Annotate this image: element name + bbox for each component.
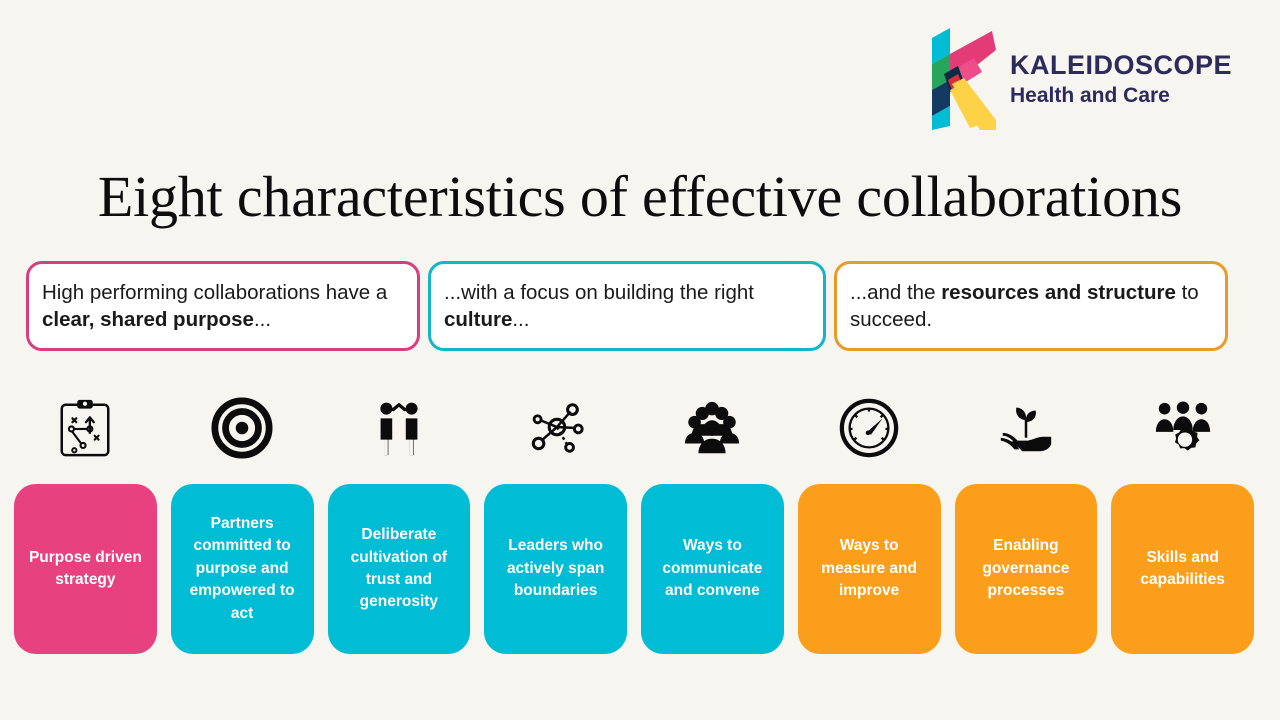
card-purpose-driven-strategy[interactable]: Purpose driven strategy — [14, 484, 157, 654]
kaleidoscope-logo: KALEIDOSCOPE Health and Care — [924, 28, 1232, 130]
icon-cell-2 — [171, 390, 314, 466]
card-ways-to-communicate[interactable]: Ways to communicate and convene — [641, 484, 784, 654]
card-deliberate-cultivation[interactable]: Deliberate cultivation of trust and gene… — [328, 484, 471, 654]
characteristics-card-row: Purpose driven strategy Partners committ… — [14, 484, 1254, 654]
card-ways-to-measure[interactable]: Ways to measure and improve — [798, 484, 941, 654]
logo-subtitle: Health and Care — [1010, 85, 1232, 106]
callout-culture-text: ...with a focus on building the right cu… — [444, 279, 811, 334]
callout-purpose-bold: clear, shared purpose — [42, 308, 254, 331]
callout-purpose: High performing collaborations have a cl… — [26, 261, 420, 351]
network-nodes-icon — [525, 397, 587, 459]
icon-cell-6 — [798, 390, 941, 466]
card-leaders-span-boundaries[interactable]: Leaders who actively span boundaries — [484, 484, 627, 654]
card-label: Ways to measure and improve — [807, 535, 932, 602]
callout-culture-tail: ... — [512, 308, 529, 331]
target-bullseye-icon — [211, 397, 273, 459]
card-label: Deliberate cultivation of trust and gene… — [337, 524, 462, 614]
icon-cell-5 — [641, 390, 784, 466]
callout-resources: ...and the resources and structure to su… — [834, 261, 1228, 351]
slide-canvas: KALEIDOSCOPE Health and Care Eight chara… — [0, 0, 1280, 720]
card-label: Partners committed to purpose and empowe… — [180, 513, 305, 625]
icon-cell-3 — [328, 390, 471, 466]
callout-resources-lead: ...and the — [850, 281, 941, 304]
callout-resources-text: ...and the resources and structure to su… — [850, 279, 1213, 334]
icon-cell-7 — [955, 390, 1098, 466]
callout-culture: ...with a focus on building the right cu… — [428, 261, 826, 351]
page-title: Eight characteristics of effective colla… — [0, 163, 1280, 230]
icon-cell-8 — [1111, 390, 1254, 466]
card-enabling-governance[interactable]: Enabling governance processes — [955, 484, 1098, 654]
icon-row — [14, 390, 1254, 466]
card-label: Enabling governance processes — [964, 535, 1089, 602]
card-label: Purpose driven strategy — [23, 547, 148, 592]
callout-purpose-tail: ... — [254, 308, 271, 331]
callout-purpose-lead: High performing collaborations have a — [42, 281, 387, 304]
callout-row: High performing collaborations have a cl… — [26, 261, 1248, 351]
high-five-people-icon — [368, 397, 430, 459]
callout-culture-bold: culture — [444, 308, 512, 331]
card-label: Leaders who actively span boundaries — [493, 535, 618, 602]
icon-cell-1 — [14, 390, 157, 466]
gauge-meter-icon — [838, 397, 900, 459]
callout-resources-bold: resources and structure — [941, 281, 1176, 304]
hand-sprout-icon — [995, 397, 1057, 459]
icon-cell-4 — [484, 390, 627, 466]
logo-title: KALEIDOSCOPE — [1010, 52, 1232, 79]
card-label: Ways to communicate and convene — [650, 535, 775, 602]
crowd-people-icon — [681, 397, 743, 459]
callout-purpose-text: High performing collaborations have a cl… — [42, 279, 405, 334]
callout-culture-lead: ...with a focus on building the right — [444, 281, 754, 304]
card-partners-committed[interactable]: Partners committed to purpose and empowe… — [171, 484, 314, 654]
strategy-clipboard-icon — [54, 397, 116, 459]
card-label: Skills and capabilities — [1120, 547, 1245, 592]
people-gear-icon — [1152, 397, 1214, 459]
logo-wordmark: KALEIDOSCOPE Health and Care — [1010, 52, 1232, 106]
kaleidoscope-k-mark — [924, 28, 996, 130]
card-skills-and-capabilities[interactable]: Skills and capabilities — [1111, 484, 1254, 654]
